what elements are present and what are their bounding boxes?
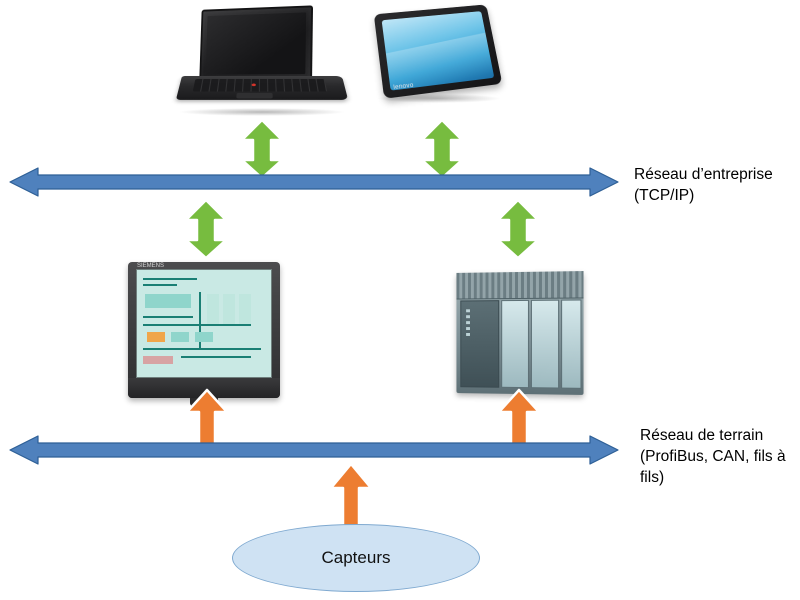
- diagram-canvas: lenovo Réseau d’entreprise (TCP/IP): [0, 0, 800, 600]
- tablet-shadow: [377, 94, 501, 103]
- plc-io-module-3: [561, 299, 581, 388]
- arrow-sensors-to-field: [328, 462, 374, 528]
- plc-io-module-2: [531, 300, 559, 389]
- sensors-label: Capteurs: [322, 548, 391, 568]
- laptop-shadow: [178, 108, 346, 116]
- plc-terminal-strip: [456, 271, 583, 299]
- hmi-touch-panel: SIEMENS: [128, 262, 280, 398]
- sensors-node: Capteurs: [232, 524, 480, 592]
- enterprise-network-bus: [8, 166, 620, 198]
- tablet-computer: lenovo: [371, 2, 511, 114]
- plc-io-module-1: [501, 300, 529, 388]
- arrow-enterprise-to-plc: [494, 198, 542, 260]
- laptop-computer: [176, 2, 348, 120]
- field-network-label: Réseau de terrain (ProfiBus, CAN, fils à…: [640, 425, 800, 488]
- plc-controller: [455, 272, 583, 394]
- laptop-base: [176, 76, 348, 100]
- field-network-bus: [8, 434, 620, 466]
- trackpoint-icon: [252, 84, 256, 87]
- plc-cpu-module: [460, 300, 499, 388]
- laptop-touchpad: [236, 93, 272, 99]
- tablet-body: lenovo: [374, 4, 503, 98]
- arrow-enterprise-to-hmi: [182, 198, 230, 260]
- tablet-screen-icon: [382, 11, 495, 90]
- laptop-screen-icon: [199, 5, 313, 84]
- plc-body: [456, 271, 583, 395]
- laptop-keyboard-icon: [193, 79, 327, 91]
- tablet-brand-label: lenovo: [393, 83, 414, 92]
- enterprise-network-label: Réseau d’entreprise (TCP/IP): [634, 164, 800, 206]
- hmi-screen-icon: [136, 269, 272, 378]
